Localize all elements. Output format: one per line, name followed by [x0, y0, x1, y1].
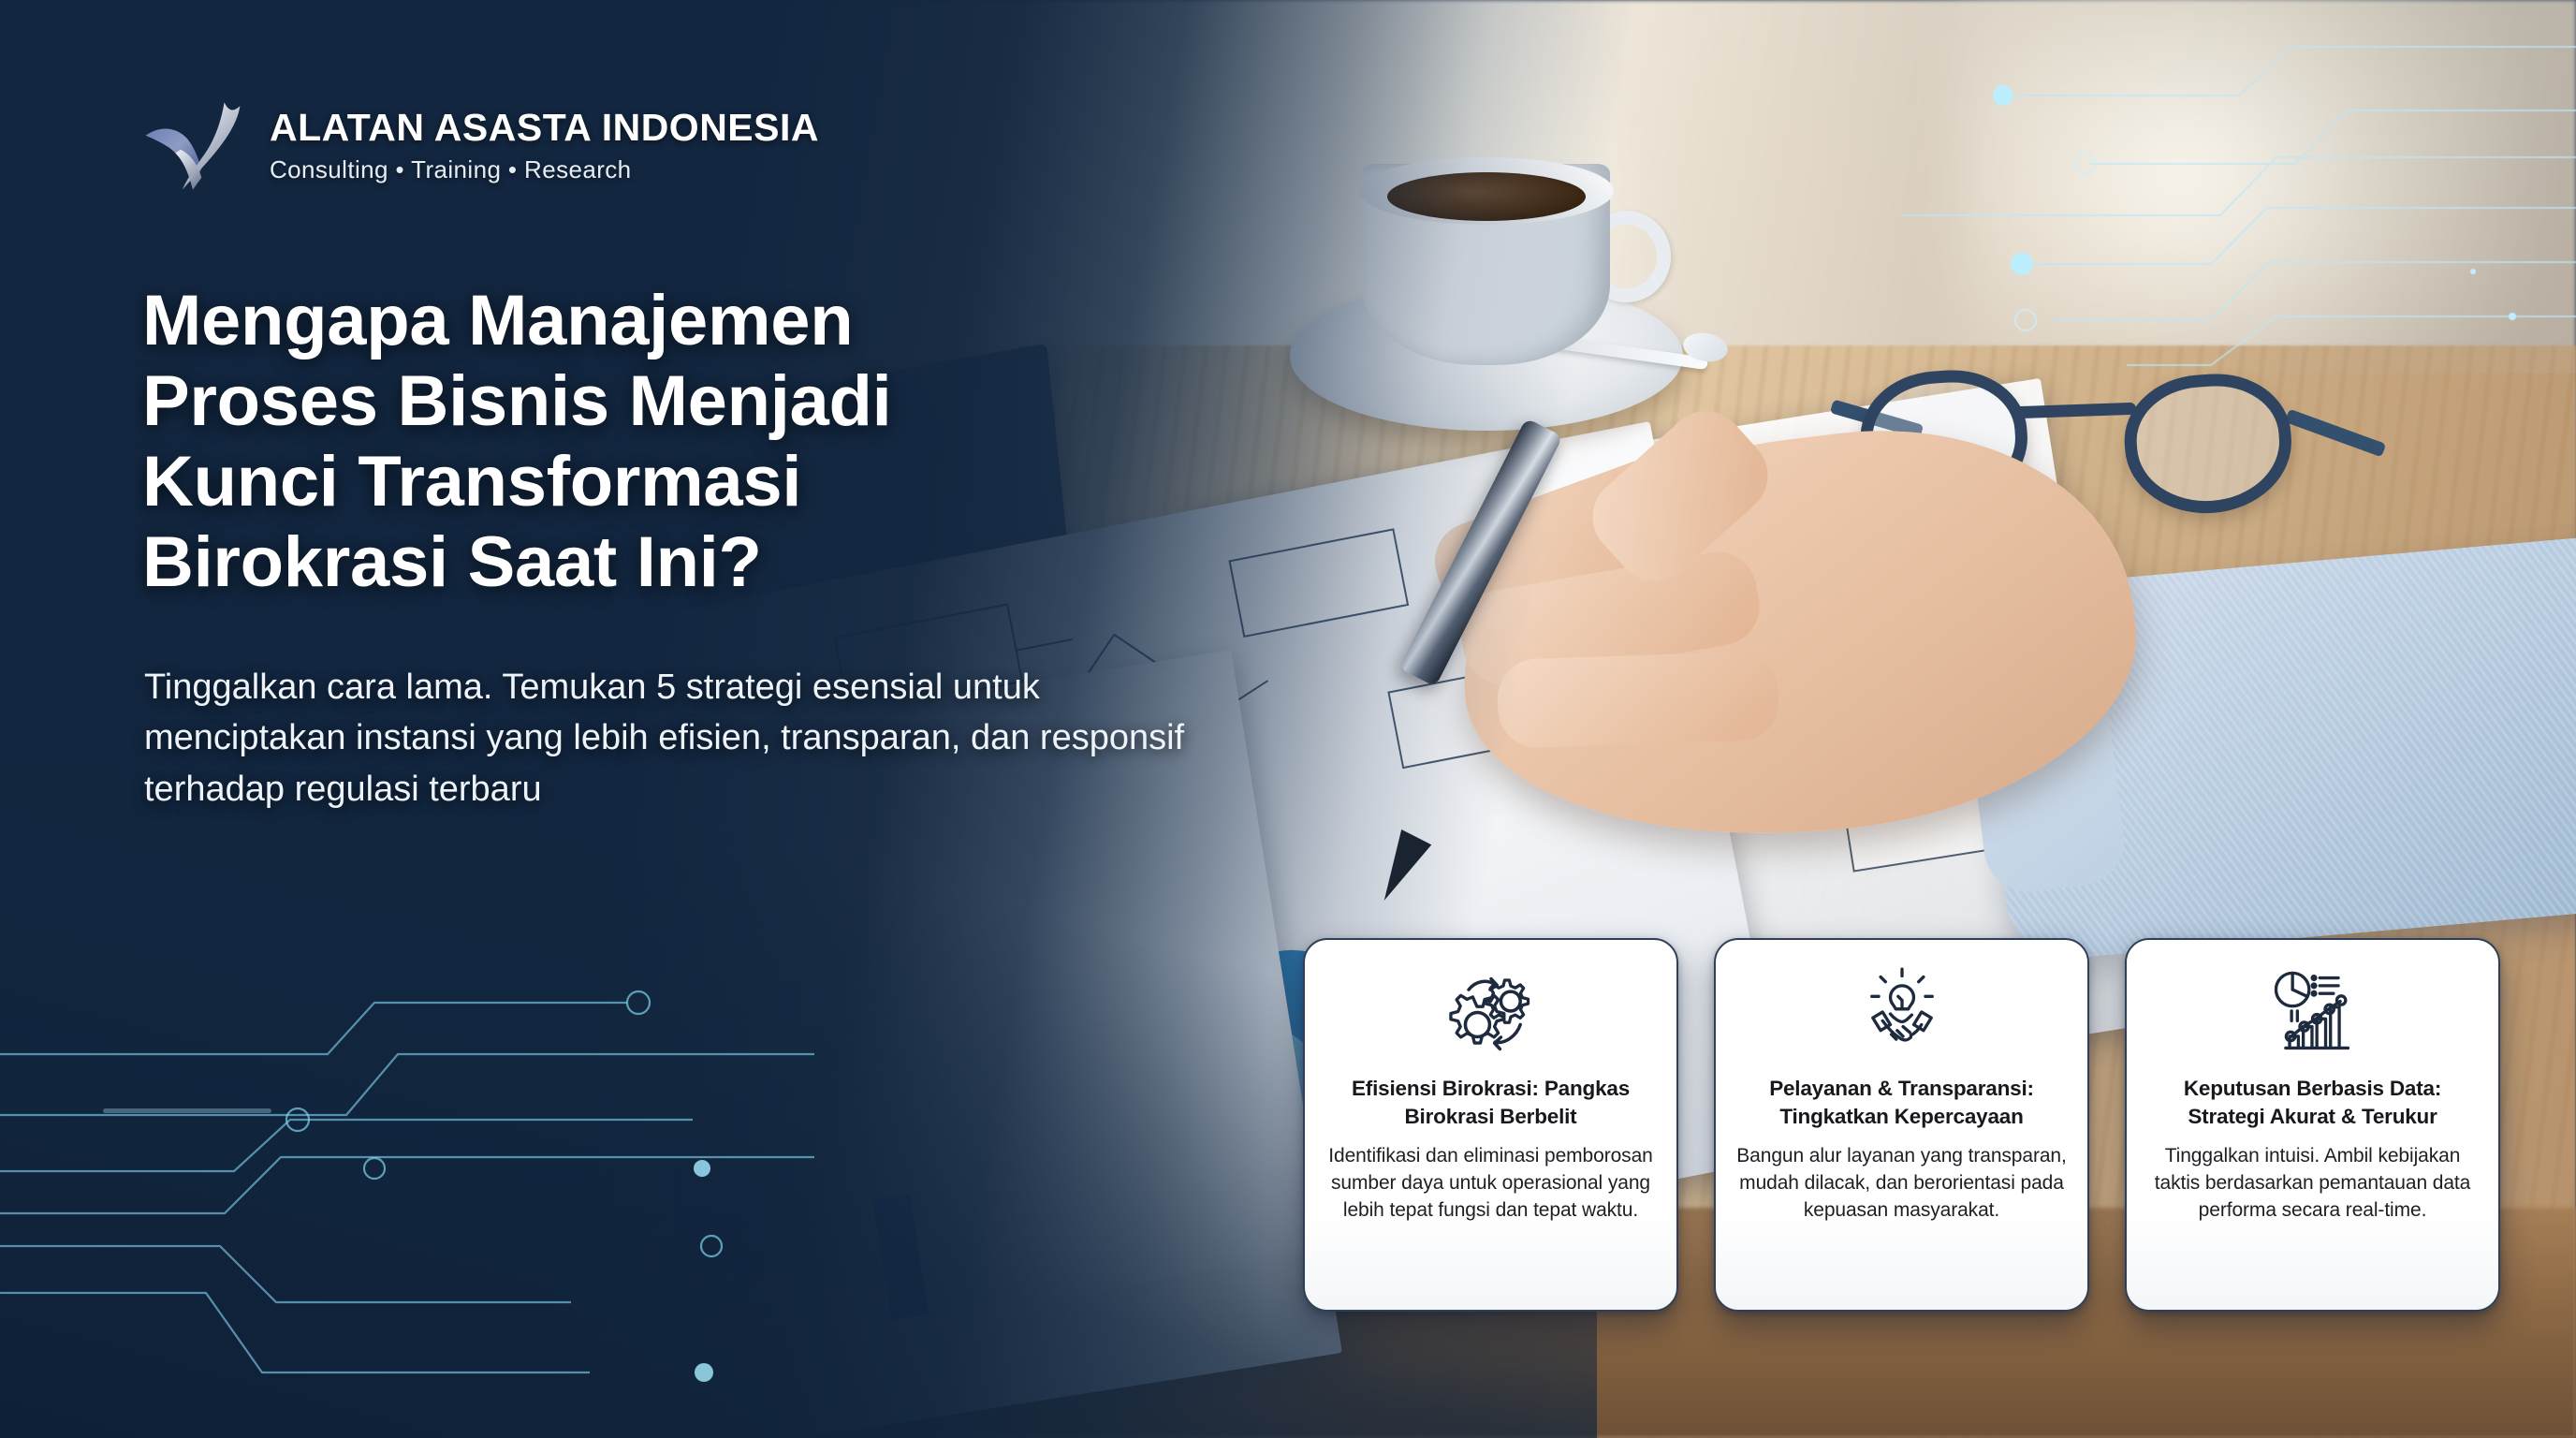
checkmark-bird-logo-icon [140, 94, 245, 198]
brand-text-block: ALATAN ASASTA INDONESIA Consulting • Tra… [270, 108, 819, 183]
feature-card-title: Keputusan Berbasis Data: Strategi Akurat… [2144, 1075, 2481, 1130]
feature-card-body: Tinggalkan intuisi. Ambil kebijakan takt… [2144, 1143, 2481, 1225]
page-subtitle: Tinggalkan cara lama. Temukan 5 strategi… [144, 662, 1202, 814]
brand-name: ALATAN ASASTA INDONESIA [270, 108, 819, 148]
top-right-haze [1648, 0, 2576, 374]
data-analytics-chart-icon [2264, 964, 2362, 1062]
brand-logo-row: ALATAN ASASTA INDONESIA Consulting • Tra… [140, 94, 819, 198]
page-title: Mengapa Manajemen Proses Bisnis Menjadi … [142, 281, 1078, 603]
feature-card-efficiency[interactable]: Efisiensi Birokrasi: Pangkas Birokrasi B… [1303, 938, 1678, 1312]
feature-card-transparency[interactable]: Pelayanan & Transparansi: Tingkatkan Kep… [1714, 938, 2089, 1312]
feature-card-list: Efisiensi Birokrasi: Pangkas Birokrasi B… [1303, 938, 2500, 1312]
feature-card-title: Efisiensi Birokrasi: Pangkas Birokrasi B… [1322, 1075, 1660, 1130]
feature-card-body: Identifikasi dan eliminasi pemborosan su… [1322, 1143, 1660, 1225]
poster-canvas: ALATAN ASASTA INDONESIA Consulting • Tra… [0, 0, 2576, 1438]
feature-card-data[interactable]: Keputusan Berbasis Data: Strategi Akurat… [2125, 938, 2500, 1312]
handshake-lightbulb-icon [1853, 964, 1951, 1062]
brand-tagline: Consulting • Training • Research [270, 155, 819, 184]
feature-card-title: Pelayanan & Transparansi: Tingkatkan Kep… [1733, 1075, 2071, 1130]
gears-cycle-icon [1442, 964, 1540, 1062]
feature-card-body: Bangun alur layanan yang transparan, mud… [1733, 1143, 2071, 1225]
